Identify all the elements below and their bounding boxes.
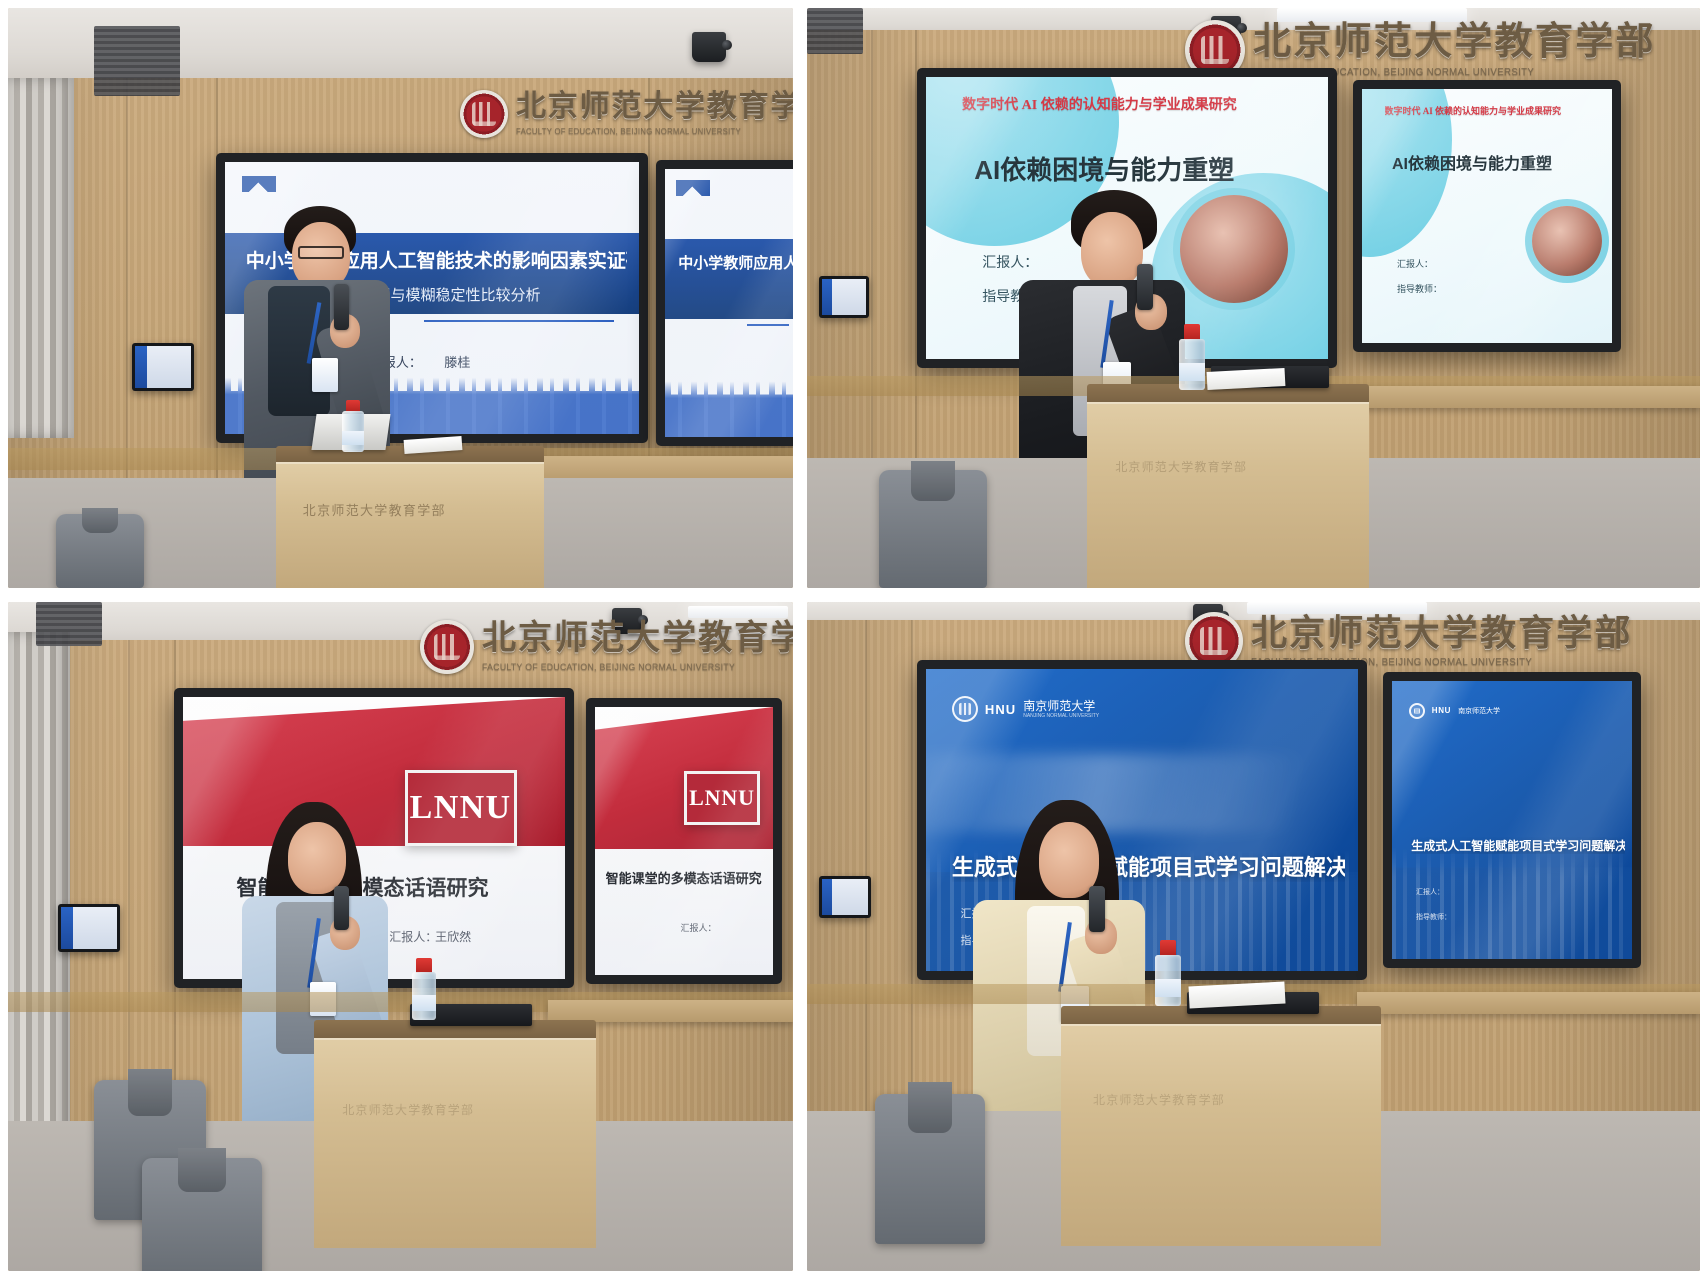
podium[interactable]: 北京师范大学教育学部 [314, 1020, 596, 1248]
head [1081, 212, 1143, 288]
slide-advisor-label: 指导教师： [1416, 912, 1451, 922]
slide-corner-mark-icon [242, 176, 276, 192]
slide-presenter-name: 滕桂 [444, 352, 470, 371]
lnnu-logo: LNNU [405, 770, 517, 846]
bottle-cap [1184, 324, 1201, 340]
podium[interactable]: 北京师范大学教育学部 [276, 446, 544, 588]
university-logo-icon [1409, 703, 1425, 719]
bottle-body [412, 972, 436, 1020]
panel-bottom-left[interactable]: 北京师范大学教育学部 FACULTY OF EDUCATION, BEIJING… [8, 602, 793, 1271]
chair[interactable] [56, 514, 144, 588]
wall-sign-en: FACULTY OF EDUCATION, BEIJING NORMAL UNI… [482, 662, 793, 672]
bnu-seal-icon [420, 620, 474, 674]
wall-control-panel[interactable] [819, 876, 871, 918]
slide-title: AI依赖困境与能力重塑 [974, 150, 1296, 187]
university-logo-icon [952, 696, 978, 722]
panel-top-left[interactable]: 北京师范大学教育学部 FACULTY OF EDUCATION, BEIJING… [8, 8, 793, 588]
head [288, 822, 346, 894]
slide-skyline-graphic [665, 378, 793, 437]
control-panel-screen[interactable] [135, 346, 191, 388]
slide-presenter-label: 汇报人： [680, 921, 716, 934]
panel-top-right[interactable]: 北京师范大学教育学部 FACULTY OF EDUCATION, BEIJING… [807, 8, 1700, 588]
slide-surface: 数字时代 AI 依赖的认知能力与学业成果研究 AI依赖困境与能力重塑 汇报人： … [1362, 89, 1612, 343]
wall-control-panel[interactable] [819, 276, 869, 318]
slide-top-left-mirror: 中小学教师应用人工智能技术的影响因素实证研究 [665, 169, 793, 437]
slide-brand: HNU 南京师范大学 NANJING NORMAL UNIVERSITY [952, 696, 1099, 722]
slide-presenter-name: 王欣然 [435, 928, 471, 945]
slide-title-mirror: 生成式人工智能赋能项目式学习问题解决 [1411, 837, 1625, 854]
podium[interactable]: 北京师范大学教育学部 [1087, 384, 1369, 588]
slide-surface: 中小学教师应用人工智能技术的影响因素实证研究 [665, 169, 793, 437]
slide-advisor-label: 指导教师： [1397, 282, 1442, 295]
brand-abbr: HNU [985, 703, 1016, 716]
microphone-icon [1089, 886, 1105, 932]
glasses-icon [298, 246, 344, 259]
podium-face: 北京师范大学教育学部 [314, 1038, 596, 1248]
slide-header-mirror: 数字时代 AI 依赖的认知能力与学业成果研究 [1385, 104, 1598, 117]
desk-ledge [548, 1000, 793, 1022]
podium-engraving: 北京师范大学教育学部 [342, 1101, 579, 1118]
main-display-secondary[interactable]: 数字时代 AI 依赖的认知能力与学业成果研究 AI依赖困境与能力重塑 汇报人： … [1353, 80, 1621, 352]
bottle-cap [1160, 940, 1177, 956]
main-display-secondary[interactable]: LNNU 智能课堂的多模态话语研究 汇报人： [586, 698, 782, 984]
microphone-icon [1137, 264, 1153, 310]
slide-title-mirror: AI依赖困境与能力重塑 [1392, 150, 1592, 174]
wall-control-panel[interactable] [132, 343, 194, 391]
bnu-seal-icon [460, 90, 508, 138]
chair[interactable] [879, 470, 987, 588]
podium-face: 北京师范大学教育学部 [276, 462, 544, 588]
control-panel-screen[interactable] [822, 279, 866, 315]
podium-engraving: 北京师范大学教育学部 [303, 500, 528, 519]
ceiling-light [688, 606, 788, 618]
chair[interactable] [875, 1094, 985, 1244]
brand-cn: 南京师范大学 [1458, 708, 1500, 715]
bottle-cap [416, 958, 431, 973]
water-bottle[interactable] [1179, 324, 1205, 390]
wall-sign-cn: 北京师范大学教育学部 [1253, 23, 1656, 61]
bottle-body [342, 411, 364, 452]
podium[interactable]: 北京师范大学教育学部 [1061, 1006, 1381, 1246]
wall-seam [648, 78, 650, 488]
water-bottle[interactable] [1155, 940, 1181, 1006]
ceiling-speaker-icon [807, 8, 863, 54]
bottle-label [1155, 979, 1181, 997]
slide-header: 数字时代 AI 依赖的认知能力与学业成果研究 [962, 94, 1304, 114]
slide-top-right-mirror: 数字时代 AI 依赖的认知能力与学业成果研究 AI依赖困境与能力重塑 汇报人： … [1362, 89, 1612, 343]
wall-sign-en: FACULTY OF EDUCATION, BEIJING NORMAL UNI… [516, 127, 793, 136]
bottle-label [342, 431, 364, 445]
wall-sign: 北京师范大学教育学部 FACULTY OF EDUCATION, BEIJING… [420, 620, 793, 674]
chair[interactable] [142, 1158, 262, 1271]
main-display-secondary[interactable]: HNU 南京师范大学 生成式人工智能赋能项目式学习问题解决 汇报人： 指导教师： [1383, 672, 1641, 968]
microphone-icon [334, 886, 349, 930]
curtain [8, 78, 74, 438]
slide-surface: LNNU 智能课堂的多模态话语研究 汇报人： [595, 707, 773, 975]
ceiling-speaker-icon [94, 26, 180, 96]
water-bottle[interactable] [342, 400, 364, 452]
bottle-body [1179, 339, 1205, 390]
lnnu-logo: LNNU [684, 771, 760, 825]
control-panel-screen[interactable] [61, 907, 117, 949]
slide-rule [424, 320, 614, 322]
slide-title-mirror: 中小学教师应用人工智能技术的影响因素实证研究 [678, 252, 793, 273]
microphone-icon [334, 284, 349, 330]
wall-sign-cn: 北京师范大学教育学部 [482, 622, 793, 656]
main-display-secondary[interactable]: 中小学教师应用人工智能技术的影响因素实证研究 [656, 160, 793, 446]
slide-bottom-right-mirror: HNU 南京师范大学 生成式人工智能赋能项目式学习问题解决 汇报人： 指导教师： [1392, 681, 1632, 959]
slide-presenter-label: 汇报人： [1397, 257, 1433, 270]
wall-sign: 北京师范大学教育学部 FACULTY OF EDUCATION, BEIJING… [460, 90, 793, 138]
slide-bottom-left-mirror: LNNU 智能课堂的多模态话语研究 汇报人： [595, 707, 773, 975]
ceiling-camera-icon [692, 32, 726, 62]
lnnu-abbr: LNNU [410, 791, 512, 825]
photo-collage: 北京师范大学教育学部 FACULTY OF EDUCATION, BEIJING… [0, 0, 1706, 1279]
brand-abbr: HNU [1432, 707, 1451, 715]
bottle-body [1155, 955, 1181, 1006]
wall-control-panel[interactable] [58, 904, 120, 952]
slide-title-mirror: 智能课堂的多模态话语研究 [606, 868, 766, 887]
slide-rule [747, 324, 789, 326]
podium-engraving: 北京师范大学教育学部 [1115, 458, 1352, 475]
podium-engraving: 北京师范大学教育学部 [1093, 1091, 1362, 1108]
lnnu-abbr: LNNU [689, 787, 755, 809]
slide-brand: HNU 南京师范大学 [1409, 703, 1500, 719]
podium-face: 北京师范大学教育学部 [1061, 1024, 1381, 1246]
slide-surface: HNU 南京师范大学 生成式人工智能赋能项目式学习问题解决 汇报人： 指导教师： [1392, 681, 1632, 959]
control-panel-screen[interactable] [822, 879, 868, 915]
water-bottle[interactable] [412, 958, 436, 1020]
desk-ledge [1357, 992, 1700, 1014]
panel-bottom-right[interactable]: 北京师范大学教育学部 FACULTY OF EDUCATION, BEIJING… [807, 602, 1700, 1271]
bottle-label [412, 995, 436, 1011]
curtain [8, 632, 70, 1151]
slide-presenter-label: 汇报人： [1416, 887, 1444, 897]
slide-corner-mark-icon [676, 180, 710, 196]
slide-band [665, 239, 793, 319]
ceiling-speaker-icon [36, 602, 102, 646]
badge [312, 358, 338, 392]
brand-en: NANJING NORMAL UNIVERSITY [1023, 714, 1099, 719]
slide-photo-circle [1532, 206, 1602, 276]
wall-sign-cn: 北京师范大学教育学部 [516, 92, 793, 122]
podium-face: 北京师范大学教育学部 [1087, 402, 1369, 588]
brand-cn: 南京师范大学 [1023, 700, 1099, 712]
slide-campus-graphic [1392, 842, 1632, 959]
bottle-label [1179, 363, 1205, 381]
wall-sign-cn: 北京师范大学教育学部 [1251, 615, 1633, 651]
